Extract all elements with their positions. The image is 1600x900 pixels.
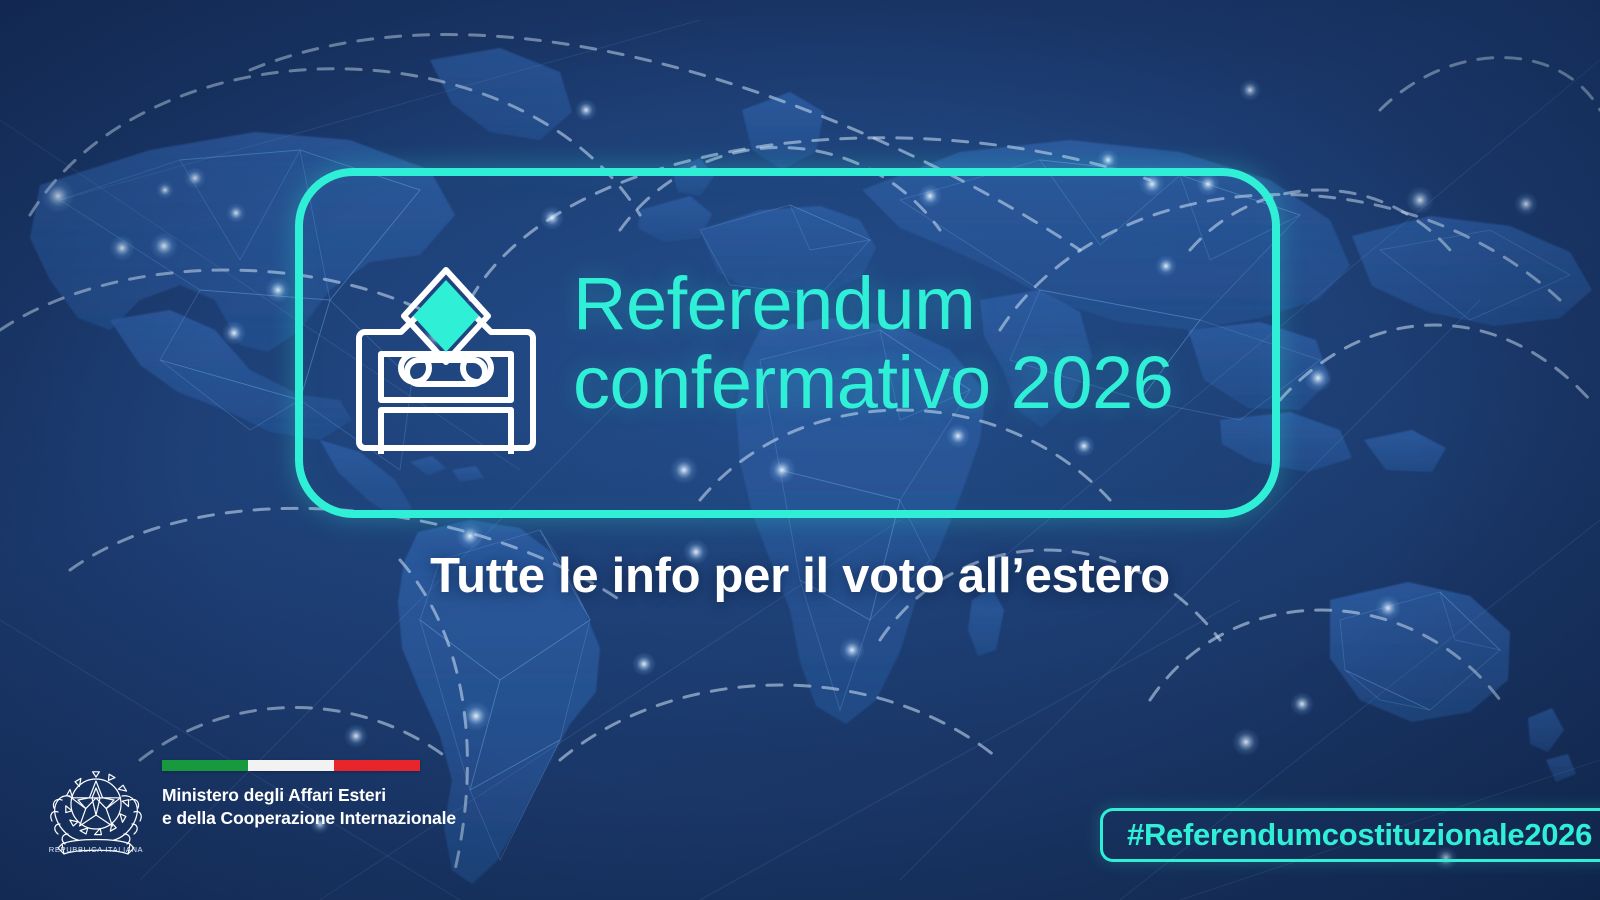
hashtag-pill[interactable]: #Referendumcostituzionale2026 [1100, 808, 1600, 862]
subtitle: Tutte le info per il voto all’estero [0, 548, 1600, 604]
banner-canvas: Referendum confermativo 2026 Tutte le in… [0, 0, 1600, 900]
emblem-of-italy: REPUBBLICA ITALIANA [44, 752, 148, 864]
ministry-name: Ministero degli Affari Esteri e della Co… [162, 784, 456, 831]
ballot-box-with-vote-icon [351, 242, 541, 454]
ministry-text-block: Ministero degli Affari Esteri e della Co… [162, 752, 456, 831]
flag-stripe-white [248, 760, 334, 771]
referendum-title-badge: Referendum confermativo 2026 [295, 168, 1280, 518]
flag-stripe-red [334, 760, 420, 771]
ballot-diamond-fill [413, 280, 479, 352]
hashtag-label: #Referendumcostituzionale2026 [1127, 817, 1592, 853]
ministry-logo-block: REPUBBLICA ITALIANA Ministero degli Affa… [44, 752, 456, 864]
emblem-motto: REPUBBLICA ITALIANA [49, 845, 144, 854]
page-title: Referendum confermativo 2026 [573, 264, 1173, 422]
flag-stripe-green [162, 760, 248, 771]
badge-content: Referendum confermativo 2026 [303, 176, 1272, 510]
italian-flag-bar [162, 760, 420, 771]
